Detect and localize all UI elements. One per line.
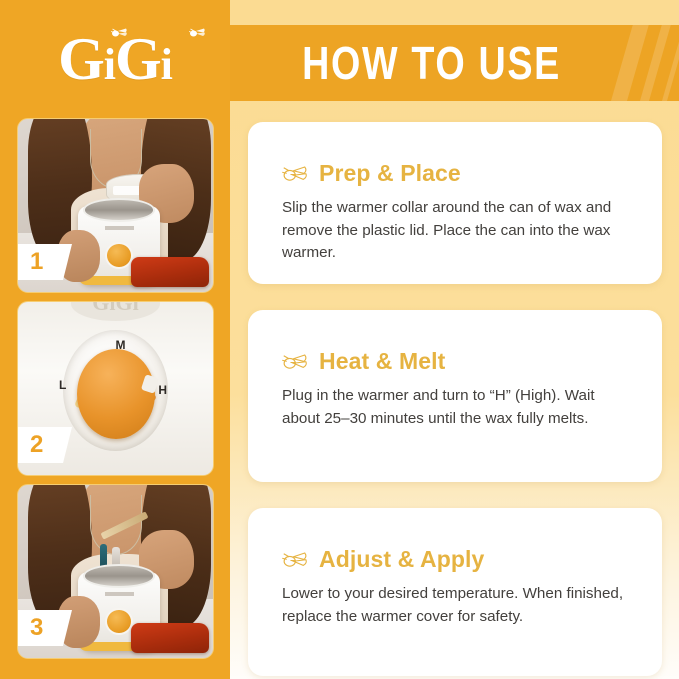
step-number-3: 3 <box>30 614 43 642</box>
bee-icon <box>282 352 308 370</box>
step-heading-3: Adjust & Apply <box>282 546 628 572</box>
step-title-3: Adjust & Apply <box>319 546 484 572</box>
dial-label-medium: M <box>116 338 126 352</box>
step-card-2: Heat & Melt Plug in the warmer and turn … <box>248 310 662 482</box>
wax-tray <box>131 257 209 286</box>
bee-icon <box>111 26 128 38</box>
warmer-dial-knob <box>105 608 133 635</box>
warmer-vents <box>105 592 134 596</box>
steps-list: Prep & Place Slip the warmer collar arou… <box>248 122 662 679</box>
step-body-1: Slip the warmer collar around the can of… <box>282 197 628 265</box>
page-title: HOW TO USE <box>270 25 638 101</box>
how-to-use-infographic: GiGi <box>0 0 679 679</box>
step-heading-2: Heat & Melt <box>282 348 628 374</box>
warmer-rim <box>83 564 155 588</box>
step-title-2: Heat & Melt <box>319 348 445 374</box>
bee-icon <box>282 550 308 568</box>
step-heading-1: Prep & Place <box>282 160 628 186</box>
left-panel: GiGi <box>0 0 230 679</box>
step-number-badge-2: 2 <box>17 427 72 463</box>
step-body-2: Plug in the warmer and turn to “H” (High… <box>282 385 628 430</box>
step-card-1: Prep & Place Slip the warmer collar arou… <box>248 122 662 284</box>
step-number-badge-1: 1 <box>17 244 72 280</box>
warmer-logo-ghost: GiGi <box>71 301 161 321</box>
dial-label-high: H <box>158 383 167 397</box>
wax-tray <box>131 623 209 652</box>
step-number-2: 2 <box>30 431 43 459</box>
brand-letter-i1: i <box>104 40 115 89</box>
right-panel: HOW TO USE Prep & Place Slip the warmer … <box>230 0 679 679</box>
step-number-1: 1 <box>30 248 43 276</box>
dial-label-low: L <box>59 378 66 392</box>
photo-stack: 1 GiGi <box>17 118 214 667</box>
step-number-badge-3: 3 <box>17 610 72 646</box>
brand-wordmark: GiGi <box>58 29 172 95</box>
step-title-1: Prep & Place <box>319 160 461 186</box>
brand-logo: GiGi <box>0 26 230 98</box>
dial-knob <box>77 349 155 439</box>
brand-letter-i2: i <box>161 40 172 89</box>
brand-letter-g1: G <box>58 26 104 92</box>
step-photo-3: 3 <box>17 484 214 659</box>
step-card-3: Adjust & Apply Lower to your desired tem… <box>248 508 662 676</box>
step-body-3: Lower to your desired temperature. When … <box>282 583 628 628</box>
warmer-dial-knob <box>105 242 133 269</box>
step-photo-2: GiGi <box>17 301 214 476</box>
bee-icon <box>282 164 308 182</box>
bee-icon <box>189 26 206 38</box>
warmer-vents <box>105 226 134 230</box>
warmer-rim <box>83 198 155 222</box>
step-photo-1: 1 <box>17 118 214 293</box>
